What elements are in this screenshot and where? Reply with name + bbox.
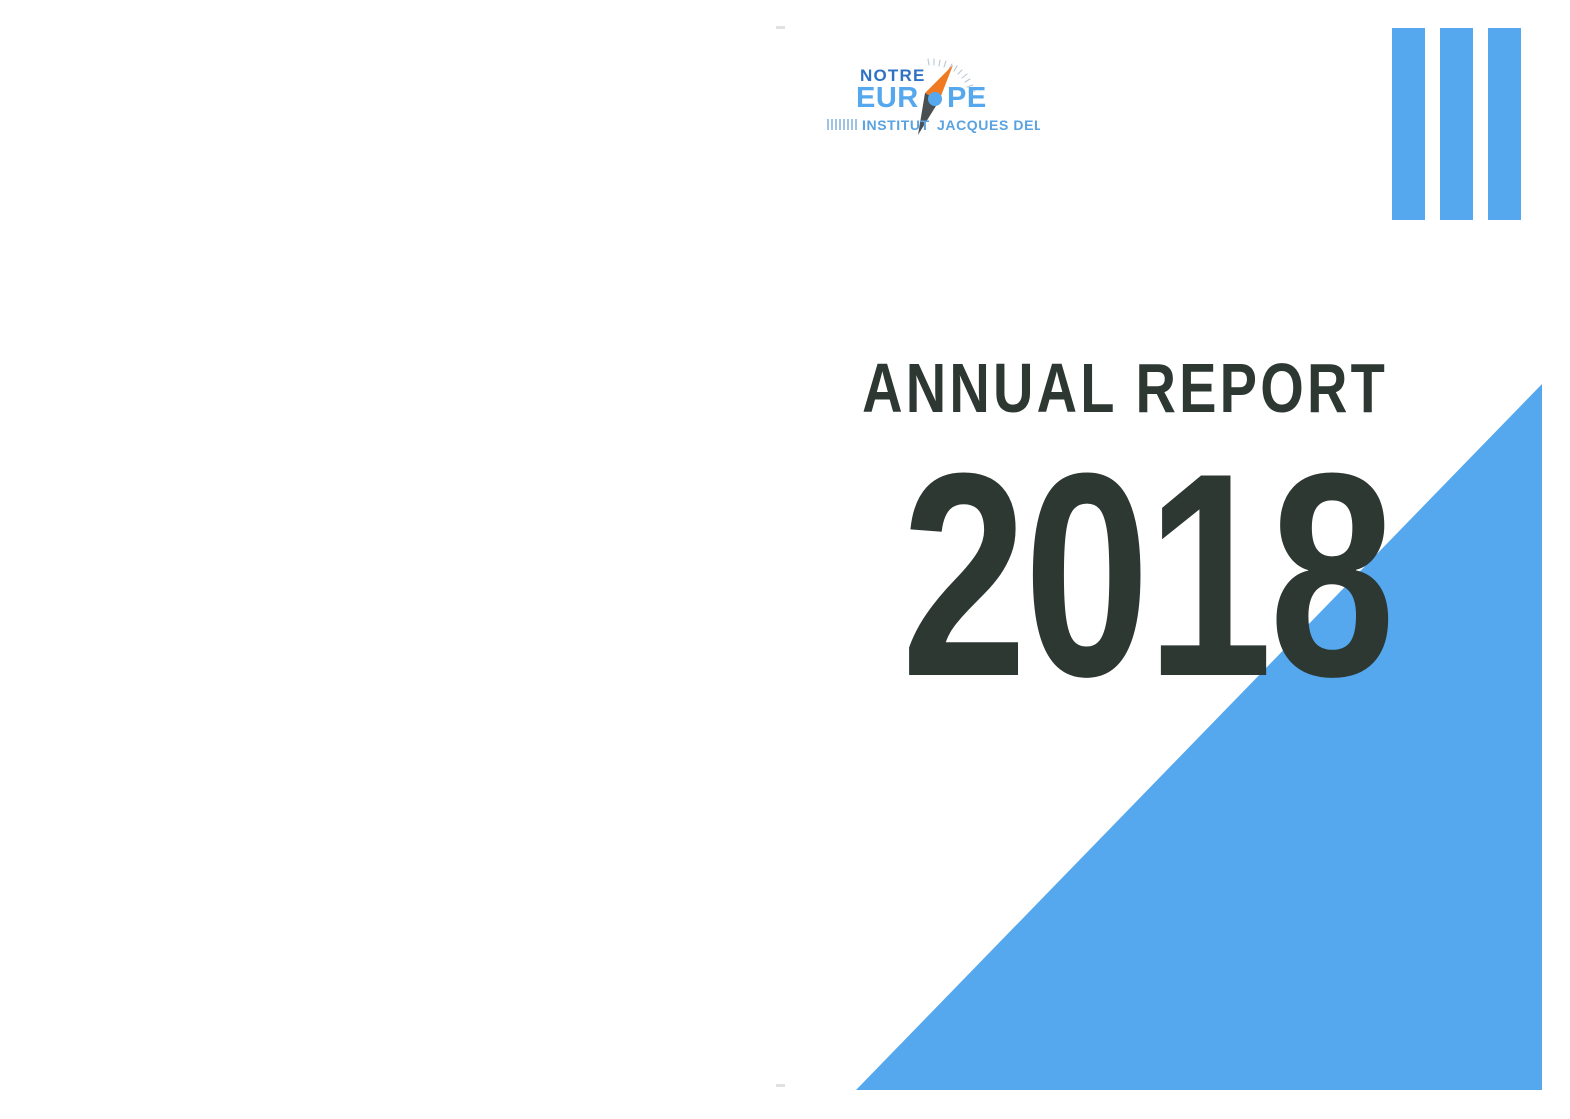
logo-europe-dot-icon (928, 92, 942, 106)
vertical-bars-decoration (1392, 28, 1521, 220)
logo-line-europe-part1: EUR (856, 82, 919, 114)
report-cover-page: NOTRE EUR PE INSTITUT JACQUES DELORS ANN (0, 0, 1570, 1119)
report-year: 2018 (306, 430, 1392, 720)
notre-europe-logo: NOTRE EUR PE INSTITUT JACQUES DELORS (826, 57, 1040, 139)
fold-mark-top (776, 26, 785, 29)
logo-line-jacques-delors: JACQUES DELORS (937, 117, 1040, 133)
fold-mark-bottom (776, 1084, 785, 1087)
vertical-bar-3 (1488, 28, 1521, 220)
logo-tick-bars-icon (827, 119, 857, 130)
logo-line-institut: INSTITUT (862, 117, 930, 133)
vertical-bar-1 (1392, 28, 1425, 220)
vertical-bar-2 (1440, 28, 1473, 220)
logo-artwork: NOTRE EUR PE INSTITUT JACQUES DELORS (826, 57, 1040, 139)
logo-line-europe-part2: PE (947, 82, 987, 114)
